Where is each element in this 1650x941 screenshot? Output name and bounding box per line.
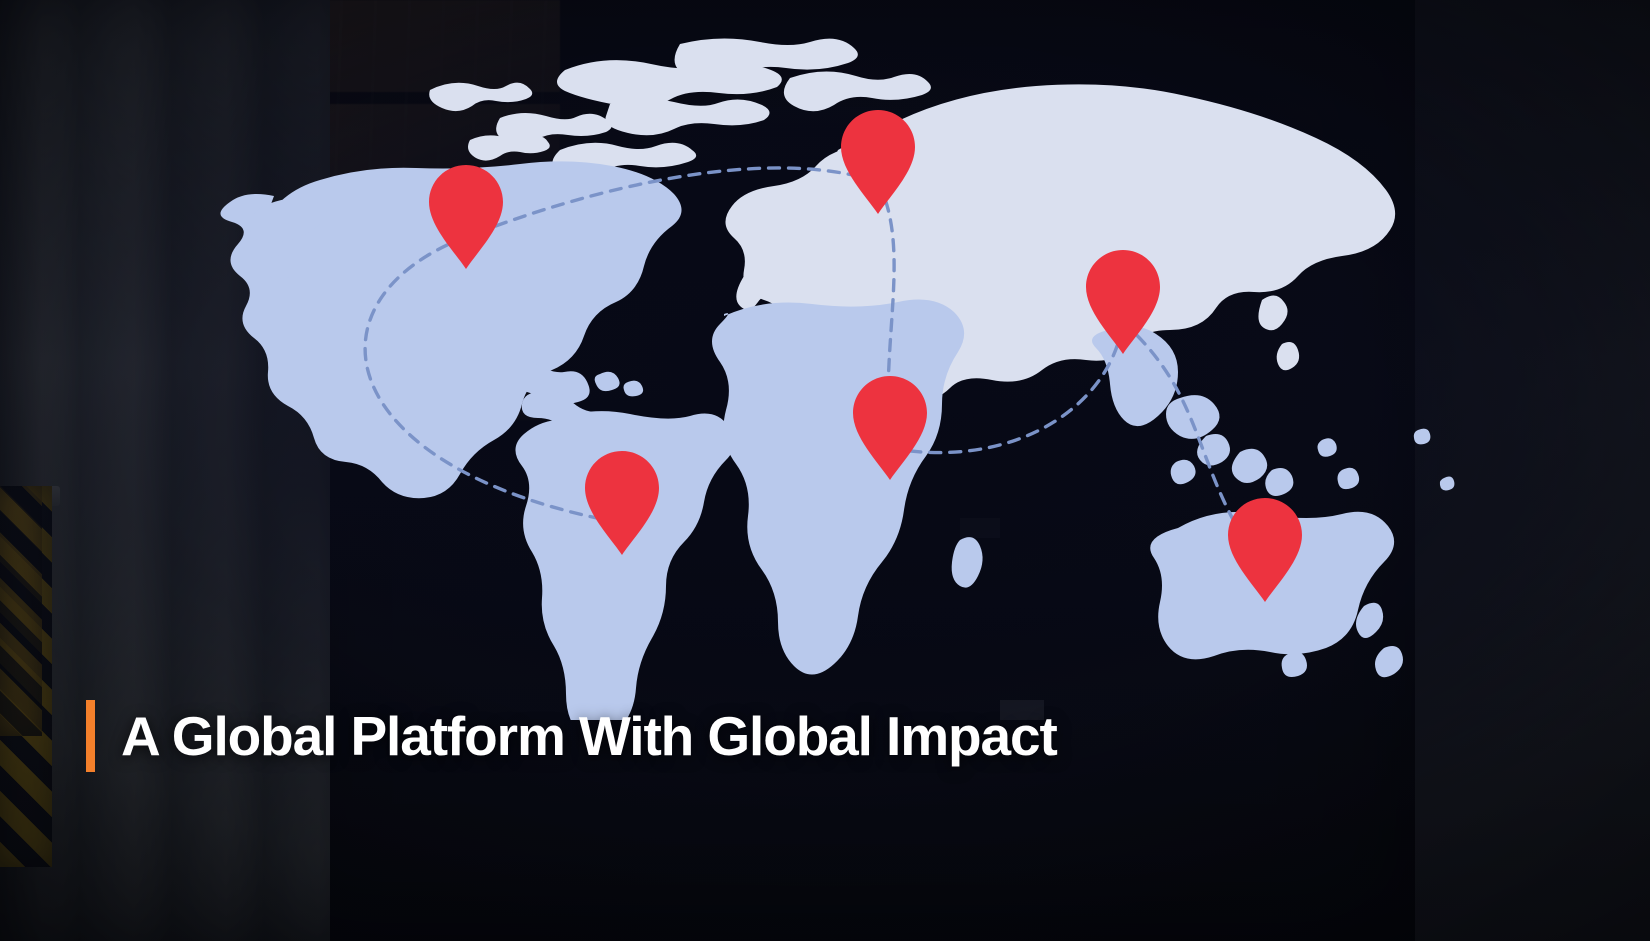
world-map <box>0 0 1650 720</box>
accent-bar <box>86 700 95 772</box>
headline-block: A Global Platform With Global Impact <box>86 700 1057 772</box>
hero-banner: A Global Platform With Global Impact <box>0 0 1650 941</box>
page-title: A Global Platform With Global Impact <box>121 709 1057 764</box>
